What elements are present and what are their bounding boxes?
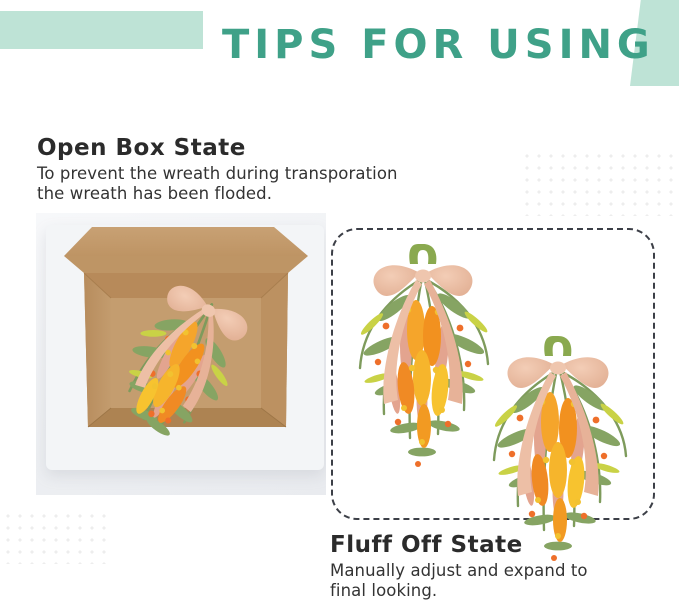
fluff-off-heading: Fluff Off State (330, 532, 660, 559)
page-title: TIPS FOR USING (222, 20, 655, 70)
fluff-off-text-block: Fluff Off State Manually adjust and expa… (330, 532, 660, 601)
open-box-heading: Open Box State (37, 135, 457, 162)
open-box-body-line-2: the wreath has been floded. (37, 184, 457, 204)
dot-pattern-bottom-left (0, 508, 112, 564)
page-header: TIPS FOR USING (0, 0, 679, 110)
fluff-off-body-line-2: final looking. (330, 581, 660, 601)
hanging-loop (544, 336, 571, 356)
dot-pattern-top-right (519, 148, 679, 216)
open-box-text-block: Open Box State To prevent the wreath dur… (37, 135, 457, 204)
open-box-body-line-1: To prevent the wreath during transporati… (37, 164, 457, 184)
box-top-flap (64, 227, 308, 273)
hanging-loop (409, 244, 436, 264)
cardboard-box-illustration (36, 213, 326, 495)
open-box-photo (36, 213, 326, 495)
header-accent-bar (0, 11, 203, 49)
fluff-off-body-line-1: Manually adjust and expand to (330, 561, 660, 581)
floral-swag-left (348, 238, 498, 488)
